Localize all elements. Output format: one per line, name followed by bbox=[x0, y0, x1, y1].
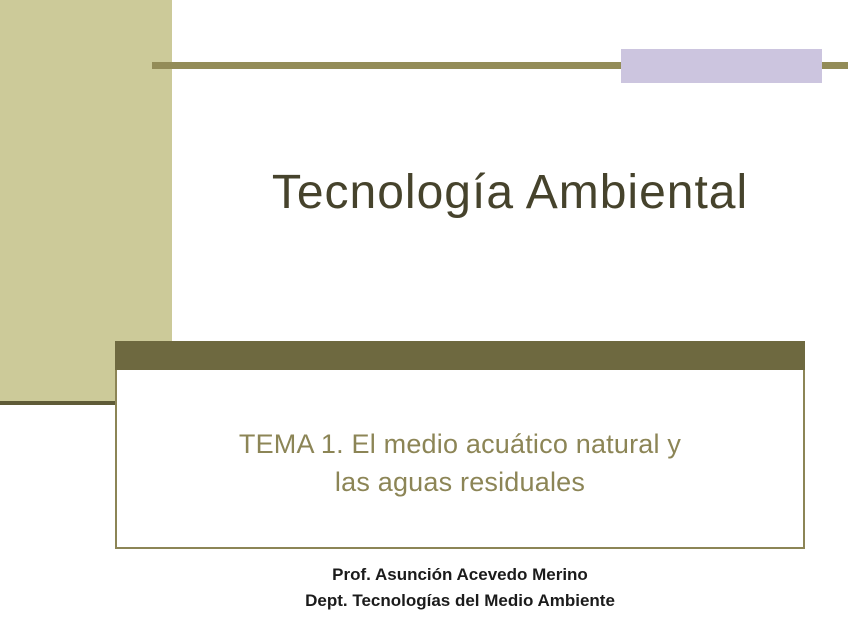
subtitle-line-1: TEMA 1. El medio acuático natural y bbox=[115, 425, 805, 463]
author-department: Dept. Tecnologías del Medio Ambiente bbox=[0, 588, 848, 614]
author-footer: Prof. Asunción Acevedo Merino Dept. Tecn… bbox=[0, 562, 848, 615]
lavender-accent-block bbox=[621, 49, 822, 83]
subtitle-line-2: las aguas residuales bbox=[115, 463, 805, 501]
author-name: Prof. Asunción Acevedo Merino bbox=[0, 562, 848, 588]
presentation-slide: Tecnología Ambiental TEMA 1. El medio ac… bbox=[0, 0, 848, 636]
subtitle-header-bar bbox=[115, 341, 805, 370]
page-title: Tecnología Ambiental bbox=[172, 165, 848, 220]
subtitle-text: TEMA 1. El medio acuático natural y las … bbox=[115, 425, 805, 502]
